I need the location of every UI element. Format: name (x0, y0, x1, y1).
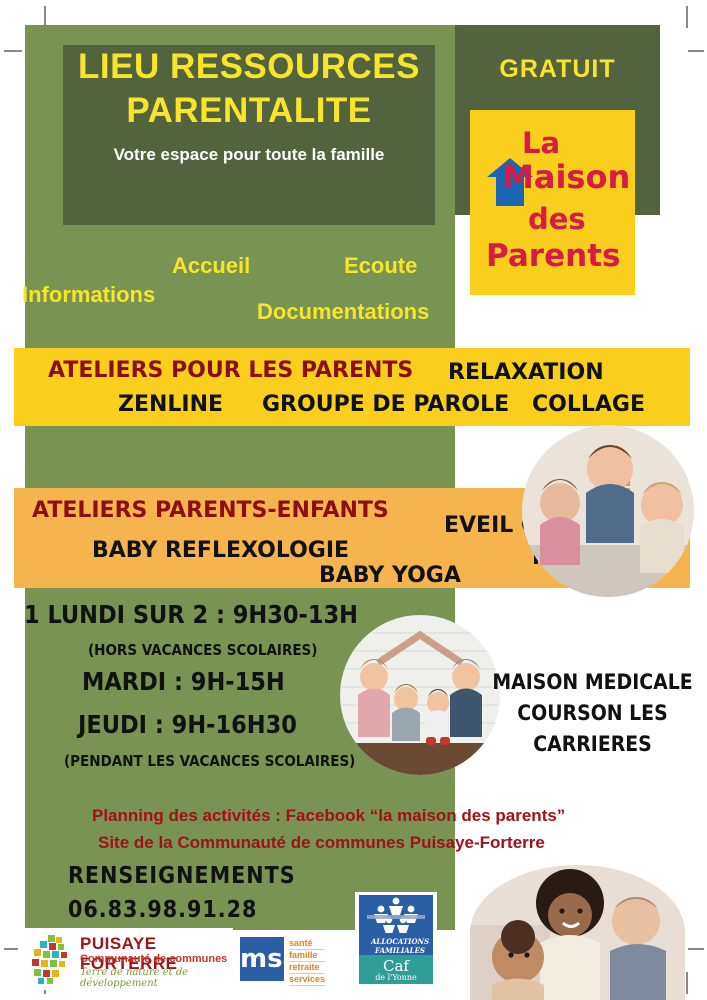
info-label: RENSEIGNEMENTS (68, 863, 296, 889)
parents-with-baby-photo (470, 865, 685, 1000)
family-playing-blocks-photo (522, 425, 694, 597)
caf-teal-panel: Caf de l'Yonne (359, 955, 433, 984)
page-title-line2: PARENTALITE (63, 89, 435, 133)
schedule-line: 1 LUNDI SUR 2 : 9H30-13H (24, 600, 358, 629)
crop-mark-tr-h (688, 50, 704, 52)
schedule-line: MARDI : 9H-15H (82, 667, 285, 696)
msa-service-services: services (289, 974, 325, 986)
planning-info: Planning des activités : Facebook “la ma… (92, 806, 565, 826)
workshop-collage: COLLAGE (532, 392, 645, 417)
msa-logo: msa santéfamilleretraiteservices (235, 932, 355, 987)
website-info: Site de la Communauté de communes Puisay… (98, 833, 545, 853)
keyword-documentations: Documentations (257, 299, 429, 325)
workshop-relaxation: RELAXATION (448, 360, 604, 385)
workshop-zenline: ZENLINE (118, 392, 223, 417)
schedule-line: (HORS VACANCES SCOLAIRES) (88, 641, 317, 659)
keyword-ecoute: Ecoute (344, 253, 417, 279)
workshop-ateliers-parents-enfants: ATELIERS PARENTS-ENFANTS (32, 498, 389, 523)
family-figures-icon (359, 895, 433, 935)
location-line1: MAISON MEDICALE (485, 670, 700, 694)
msa-square-icon: msa (240, 937, 284, 981)
workshop-groupe-de-parole: GROUPE DE PAROLE (262, 392, 509, 417)
workshop-ateliers-pour-les-parents: ATELIERS POUR LES PARENTS (48, 358, 413, 383)
poster-canvas: LIEU RESSOURCES PARENTALITE Votre espace… (0, 0, 707, 1000)
keyword-accueil: Accueil (172, 253, 250, 279)
puisaye-map-icon (26, 933, 78, 985)
free-badge: GRATUIT (455, 55, 660, 84)
puisaye-forterre-logo: PUISAYE FORTERRE Communauté de communes … (18, 928, 233, 990)
family-house-gesture-photo (340, 615, 500, 775)
schedule-line: JEUDI : 9H-16H30 (78, 710, 297, 739)
page-subtitle: Votre espace pour toute la famille (63, 145, 435, 165)
schedule-line: (PENDANT LES VACANCES SCOLAIRES) (64, 752, 355, 770)
caf-blue-panel: ALLOCATIONS FAMILIALES (359, 895, 433, 955)
msa-monogram: msa (240, 937, 284, 981)
msa-services: santéfamilleretraiteservices (289, 938, 325, 986)
parents-workshops-band: ATELIERS POUR LES PARENTSRELAXATIONZENLI… (14, 348, 690, 426)
phone-number: 06.83.98.91.28 (68, 897, 257, 923)
caf-department: de l'Yonne (359, 973, 433, 982)
location-line3: CARRIERES (485, 732, 700, 756)
puisaye-subtitle: Communauté de communes (80, 953, 227, 965)
title-box: LIEU RESSOURCES PARENTALITE Votre espace… (63, 45, 435, 225)
msa-service-retraite: retraite (289, 962, 325, 974)
logo-word-maison: Maison (502, 158, 630, 196)
workshop-baby-reflexologie: BABY REFLEXOLOGIE (92, 538, 349, 563)
page-title-line1: LIEU RESSOURCES (63, 45, 435, 89)
logo-word-la: La (522, 126, 560, 160)
maison-des-parents-logo: La Maison des Parents (470, 110, 635, 295)
crop-mark-br-v (686, 972, 688, 994)
workshop-baby-yoga: BABY YOGA (319, 563, 461, 588)
location-line2: COURSON LES (485, 701, 700, 725)
crop-mark-br-h (688, 948, 704, 950)
msa-service-famille: famille (289, 950, 325, 962)
puisaye-tagline: Terre de nature et de développement (80, 967, 233, 989)
logo-word-des: des (528, 202, 586, 236)
caf-logo: ALLOCATIONS FAMILIALES Caf de l'Yonne (355, 892, 437, 987)
crop-mark-tl-h (4, 50, 22, 52)
msa-service-santé: santé (289, 938, 325, 950)
crop-mark-tr-v (686, 6, 688, 28)
keyword-informations: Informations (22, 282, 155, 308)
caf-org-name: ALLOCATIONS FAMILIALES (363, 937, 437, 955)
logo-word-parents: Parents (486, 238, 620, 274)
